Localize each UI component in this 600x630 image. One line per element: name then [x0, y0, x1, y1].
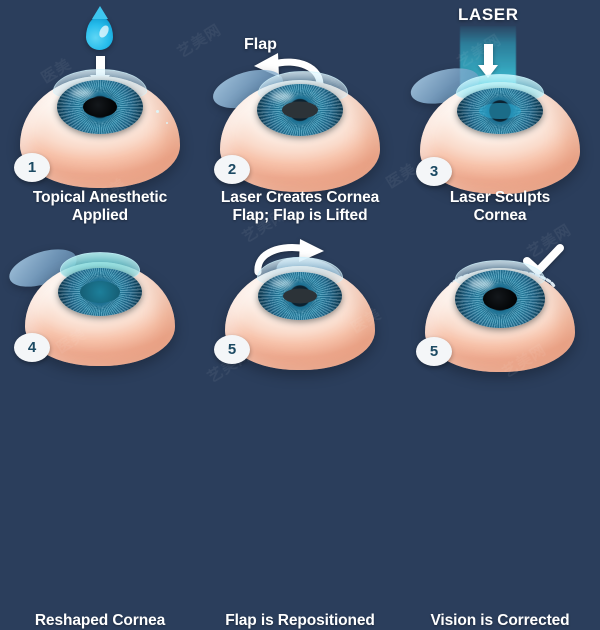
iris-icon	[455, 270, 545, 328]
caption-line-1: Laser Sculpts	[400, 189, 600, 207]
pupil-icon	[283, 289, 317, 304]
step-caption: Vision is Corrected	[400, 612, 600, 630]
water-droplet-icon	[86, 16, 113, 50]
caption-line-1: Reshaped Cornea	[0, 612, 200, 630]
step-badge: 5	[214, 335, 250, 364]
lasik-procedure-infographic: 1 Topical Anesthetic Applied Flap	[0, 0, 600, 400]
iris-icon	[58, 268, 142, 316]
laser-annotation-label: LASER	[458, 5, 519, 25]
step-panel-3: LASER 3 Laser Sculpts Cornea	[400, 0, 600, 240]
step-badge: 4	[14, 333, 50, 362]
iris-icon	[57, 80, 143, 134]
step-caption: Flap is Repositioned	[200, 612, 400, 630]
step-4-illustration: 4	[0, 240, 200, 400]
sparkle-icon	[156, 110, 159, 113]
step-badge: 2	[214, 155, 250, 184]
caption-line-2: Flap; Flap is Lifted	[200, 207, 400, 225]
caption-line-1: Laser Creates Cornea	[200, 189, 400, 207]
step-5-illustration: 5	[200, 240, 400, 400]
step-6-illustration: 5	[400, 240, 600, 400]
iris-highlight	[271, 92, 293, 100]
down-arrow-icon	[484, 44, 493, 66]
caption-line-2: Cornea	[400, 207, 600, 225]
pupil-icon	[483, 288, 517, 310]
pupil-icon	[282, 102, 318, 119]
caption-line-1: Topical Anesthetic	[0, 189, 200, 207]
step-caption: Laser Sculpts Cornea	[400, 189, 600, 226]
steps-grid: 1 Topical Anesthetic Applied Flap	[0, 0, 600, 400]
step-panel-4: 4 Reshaped Cornea	[0, 240, 200, 400]
step-panel-1: 1 Topical Anesthetic Applied	[0, 0, 200, 240]
iris-highlight	[469, 279, 492, 288]
step-badge: 3	[416, 157, 452, 186]
pupil-icon	[80, 281, 120, 303]
step-panel-6: 5 Vision is Corrected	[400, 240, 600, 400]
step-panel-2: Flap 2 Laser Creates Cornea	[200, 0, 400, 240]
caption-line-2: Applied	[0, 207, 200, 225]
step-badge: 1	[14, 153, 50, 182]
flap-annotation-label: Flap	[244, 36, 277, 54]
sparkle-icon	[166, 122, 168, 124]
caption-line-1: Vision is Corrected	[400, 612, 600, 630]
step-caption: Laser Creates Cornea Flap; Flap is Lifte…	[200, 189, 400, 226]
step-caption: Reshaped Cornea	[0, 612, 200, 630]
pupil-icon	[83, 97, 117, 117]
iris-icon	[457, 88, 543, 134]
iris-icon	[257, 84, 343, 136]
iris-icon	[258, 272, 342, 320]
caption-line-1: Flap is Repositioned	[200, 612, 400, 630]
step-panel-5: 5 Flap is Repositioned	[200, 240, 400, 400]
step-badge: 5	[416, 337, 452, 366]
step-caption: Topical Anesthetic Applied	[0, 189, 200, 226]
pupil-icon	[479, 103, 521, 119]
